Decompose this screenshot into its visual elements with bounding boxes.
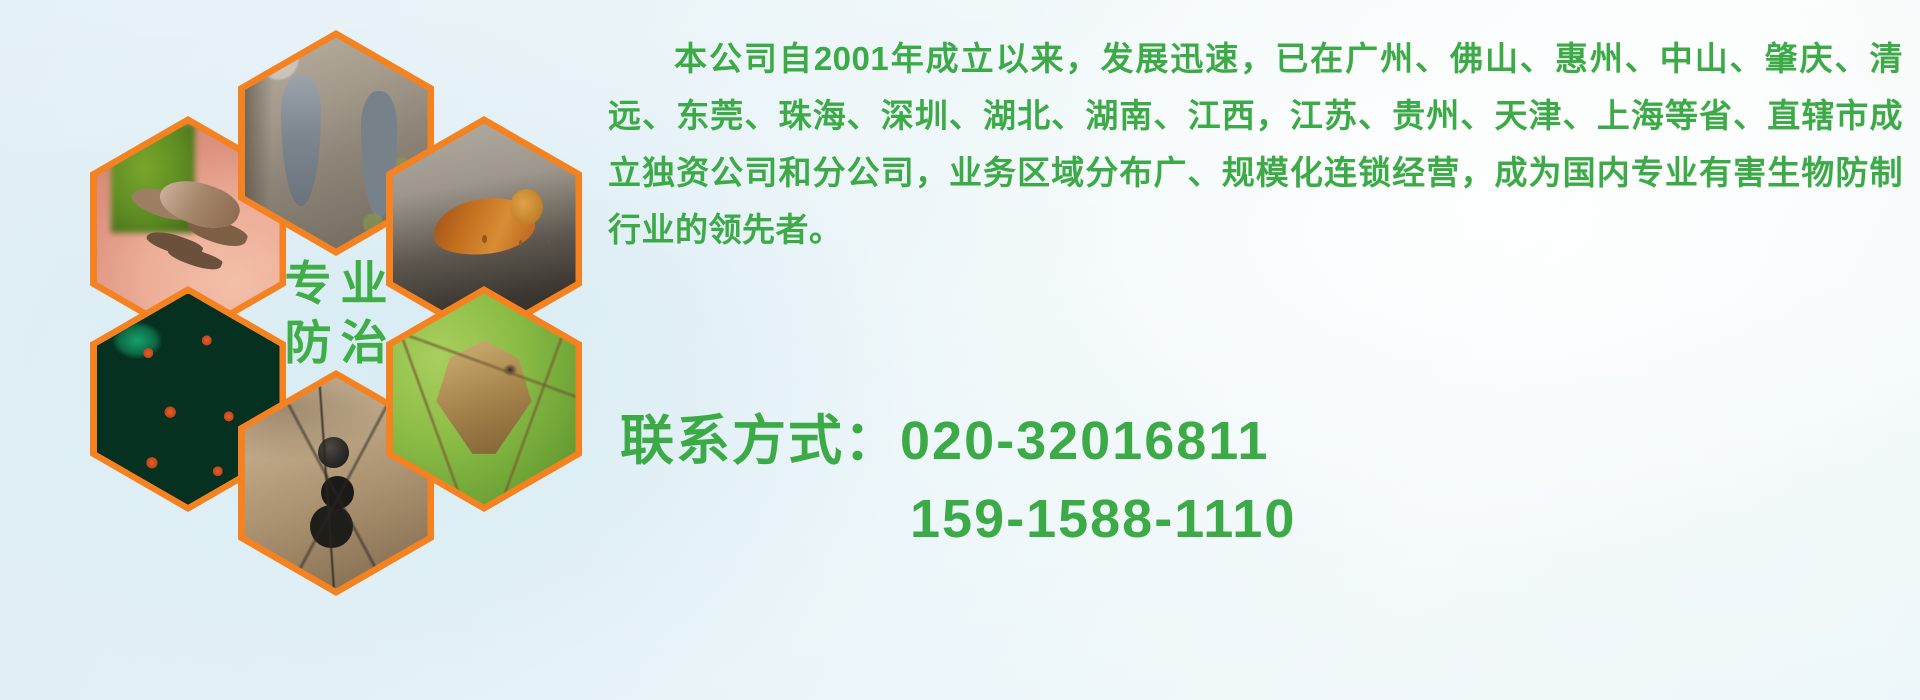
contact-phone-secondary[interactable]: 159-1588-1110 bbox=[620, 480, 1920, 558]
promo-banner: 专业 防治 本公司自2001年成立以来，发展迅速，已在广州、佛山、惠州、中山、肇… bbox=[0, 0, 1920, 700]
honeycomb-center-label: 专业 防治 bbox=[238, 200, 434, 426]
contact-block: 联系方式：020-32016811 159-1588-1110 bbox=[620, 402, 1920, 558]
company-description-text: 本公司自2001年成立以来，发展迅速，已在广州、佛山、惠州、中山、肇庆、清远、东… bbox=[608, 30, 1903, 258]
contact-phone-primary[interactable]: 联系方式：020-32016811 bbox=[620, 402, 1920, 480]
company-description-block: 本公司自2001年成立以来，发展迅速，已在广州、佛山、惠州、中山、肇庆、清远、东… bbox=[608, 30, 1908, 258]
center-word-line-1: 专业 bbox=[276, 259, 397, 308]
center-word-line-2: 防治 bbox=[276, 318, 397, 367]
honeycomb-collage: 专业 防治 bbox=[90, 8, 590, 568]
